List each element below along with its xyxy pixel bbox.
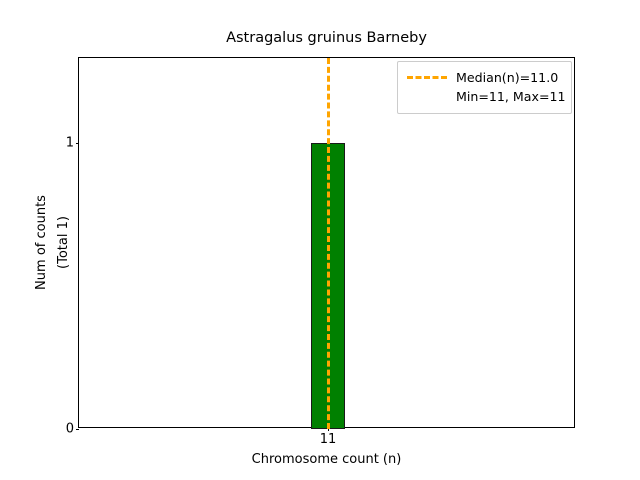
- plot-area: 0 1 11 Median(n)=11.0 Min=11, Max=11: [78, 57, 575, 428]
- legend-label: Median(n)=11.0: [456, 70, 558, 85]
- legend-entry-minmax: Min=11, Max=11: [407, 87, 562, 106]
- x-axis-label: Chromosome count (n): [78, 452, 575, 468]
- legend: Median(n)=11.0 Min=11, Max=11: [397, 61, 572, 114]
- median-line: [327, 58, 330, 429]
- page-title: Astragalus gruinus Barneby: [78, 30, 575, 47]
- y-axis-label-line2: (Total 1): [56, 216, 71, 269]
- y-tick-mark: [76, 429, 80, 430]
- legend-entry-median: Median(n)=11.0: [407, 68, 562, 87]
- x-tick-label: 11: [320, 433, 337, 447]
- chart-figure: Astragalus gruinus Barneby 0 1 11 Median…: [0, 0, 640, 480]
- y-axis-label-total: (Total 1): [56, 57, 74, 428]
- dashed-line-icon: [407, 76, 447, 79]
- legend-label: Min=11, Max=11: [456, 89, 566, 104]
- y-axis-label: Num of counts: [34, 57, 56, 428]
- y-tick-mark: [76, 143, 80, 144]
- y-axis-label-line1: Num of counts: [34, 57, 49, 428]
